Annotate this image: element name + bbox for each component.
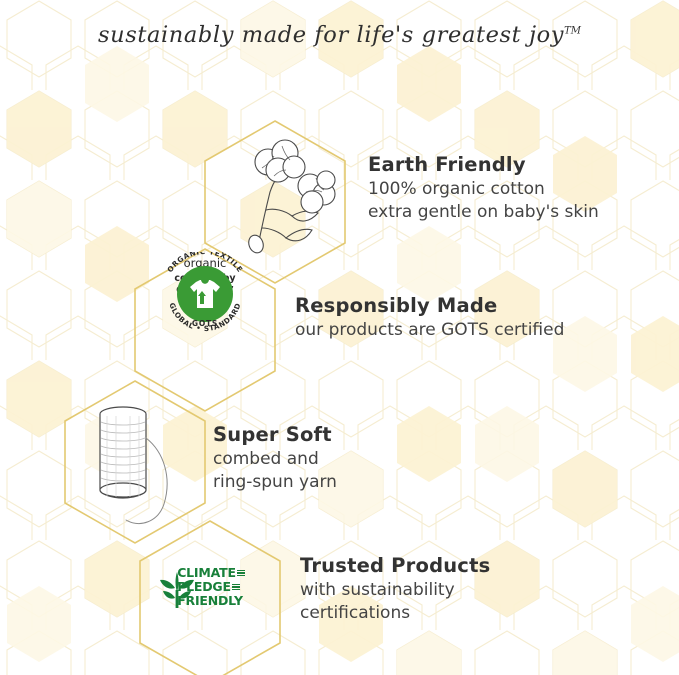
- feature-line: extra gentle on baby's skin: [368, 201, 599, 224]
- feature-title: Responsibly Made: [295, 294, 564, 317]
- feature-responsibly-made-text: Responsibly Made our products are GOTS c…: [295, 294, 564, 342]
- feature-trusted-products-text: Trusted Products with sustainability cer…: [300, 554, 490, 624]
- gots-certification-badge-icon: ORGANIC TEXTILE GLOBAL • STANDARD GOTS o…: [148, 252, 262, 297]
- feature-line: our products are GOTS certified: [295, 319, 564, 342]
- feature-earth-friendly-text: Earth Friendly 100% organic cotton extra…: [368, 153, 599, 223]
- gots-logo-icon: ORGANIC TEXTILE GLOBAL • STANDARD GOTS: [148, 252, 262, 332]
- feature-title: Super Soft: [213, 423, 337, 446]
- svg-text:GOTS: GOTS: [192, 319, 218, 328]
- feature-title: Earth Friendly: [368, 153, 599, 176]
- feature-line: 100% organic cotton: [368, 178, 599, 201]
- feature-line: ring-spun yarn: [213, 471, 337, 494]
- feature-title: Trusted Products: [300, 554, 490, 577]
- climate-pledge-hex: CLIMATE PLEDGE FRIENDLY: [135, 518, 285, 675]
- feature-super-soft-text: Super Soft combed and ring-spun yarn: [213, 423, 337, 493]
- trademark-symbol: TM: [564, 26, 581, 37]
- climate-pledge-friendly-icon: CLIMATE PLEDGE FRIENDLY: [152, 566, 270, 608]
- cpf-wings-leaf-icon: [157, 566, 197, 610]
- page-headline: sustainably made for life's greatest joy…: [0, 22, 679, 48]
- cpf-bars-icon: [232, 582, 240, 591]
- cpf-bars-icon: [237, 568, 245, 577]
- feature-line: combed and: [213, 448, 337, 471]
- headline-text: sustainably made for life's greatest joy: [98, 22, 564, 48]
- feature-line: certifications: [300, 602, 490, 625]
- product-feature-infographic: sustainably made for life's greatest joy…: [0, 0, 679, 675]
- feature-line: with sustainability: [300, 579, 490, 602]
